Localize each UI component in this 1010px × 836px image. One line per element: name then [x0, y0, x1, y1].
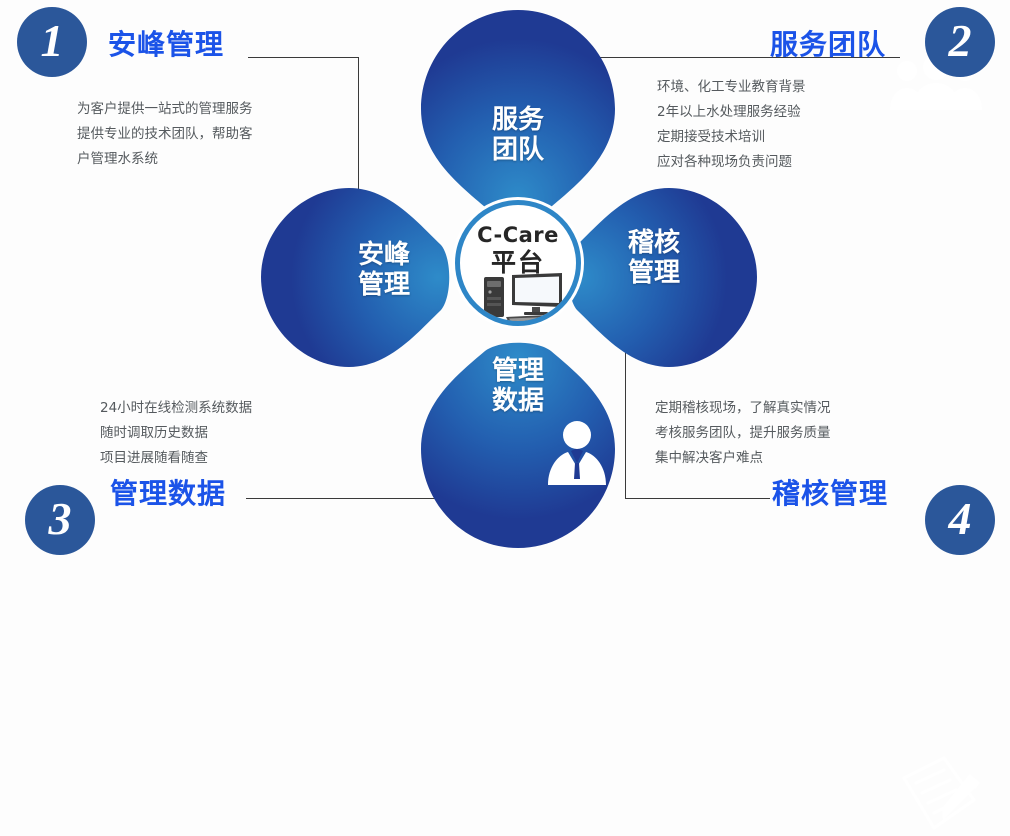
- quadrant-4-title: 稽核管理: [772, 472, 888, 512]
- quadrant-3-line-3: 项目进展随看随查: [100, 446, 252, 471]
- quadrant-3-description: 24小时在线检测系统数据 随时调取历史数据 项目进展随看随查: [100, 396, 252, 471]
- quadrant-number-4-text: 4: [949, 496, 972, 542]
- petal-label-anfeng-management: 安峰 管理: [348, 240, 420, 300]
- petal-label-audit-management: 稽核 管理: [618, 228, 690, 288]
- quadrant-4-description: 定期稽核现场，了解真实情况 考核服务团队，提升服务质量 集中解决客户难点: [655, 396, 831, 471]
- businessman-icon: [546, 419, 608, 485]
- quadrant-4-line-3: 集中解决客户难点: [655, 446, 831, 471]
- quadrant-1-line-3: 户管理水系统: [77, 147, 253, 172]
- quadrant-1-title: 安峰管理: [108, 23, 224, 63]
- quadrant-3-title: 管理数据: [110, 472, 226, 512]
- quadrant-1-line-2: 提供专业的技术团队，帮助客: [77, 122, 253, 147]
- quadrant-2-line-1: 环境、化工专业教育背景: [657, 75, 806, 100]
- quadrant-number-1: 1: [17, 7, 87, 77]
- quadrant-number-2: 2: [925, 7, 995, 77]
- quadrant-number-3: 3: [25, 485, 95, 555]
- quadrant-2-description: 环境、化工专业教育背景 2年以上水处理服务经验 定期接受技术培训 应对各种现场负…: [657, 75, 806, 175]
- quadrant-3-line-2: 随时调取历史数据: [100, 421, 252, 446]
- quadrant-1-description: 为客户提供一站式的管理服务 提供专业的技术团队，帮助客 户管理水系统: [77, 97, 253, 172]
- quadrant-2-line-3: 定期接受技术培训: [657, 125, 806, 150]
- petal-label-management-data: 管理 数据: [483, 356, 553, 416]
- center-hub-c-care-platform[interactable]: C-Care 平台: [455, 200, 581, 326]
- quadrant-2-line-4: 应对各种现场负责问题: [657, 150, 806, 175]
- quadrant-2-line-2: 2年以上水处理服务经验: [657, 100, 806, 125]
- quadrant-4-line-1: 定期稽核现场，了解真实情况: [655, 396, 831, 421]
- petal-label-service-team: 服务 团队: [483, 105, 553, 165]
- infographic-canvas: 服务 团队 安峰 管理 稽核 管理 管理 数据 C-Care 平台: [0, 0, 1010, 572]
- quadrant-number-1-text: 1: [41, 18, 64, 64]
- clipboard-pencil-icon: [896, 750, 982, 836]
- quadrant-number-3-text: 3: [49, 496, 72, 542]
- quadrant-1-line-1: 为客户提供一站式的管理服务: [77, 97, 253, 122]
- quadrant-4-line-2: 考核服务团队，提升服务质量: [655, 421, 831, 446]
- desktop-computer-icon: [482, 271, 566, 326]
- quadrant-2-title: 服务团队: [770, 23, 886, 63]
- connector-line-quadrant-1-horizontal: [248, 57, 358, 58]
- quadrant-number-4: 4: [925, 485, 995, 555]
- quadrant-3-line-1: 24小时在线检测系统数据: [100, 396, 252, 421]
- quadrant-number-2-text: 2: [949, 18, 972, 64]
- connector-line-quadrant-4-horizontal: [625, 498, 770, 499]
